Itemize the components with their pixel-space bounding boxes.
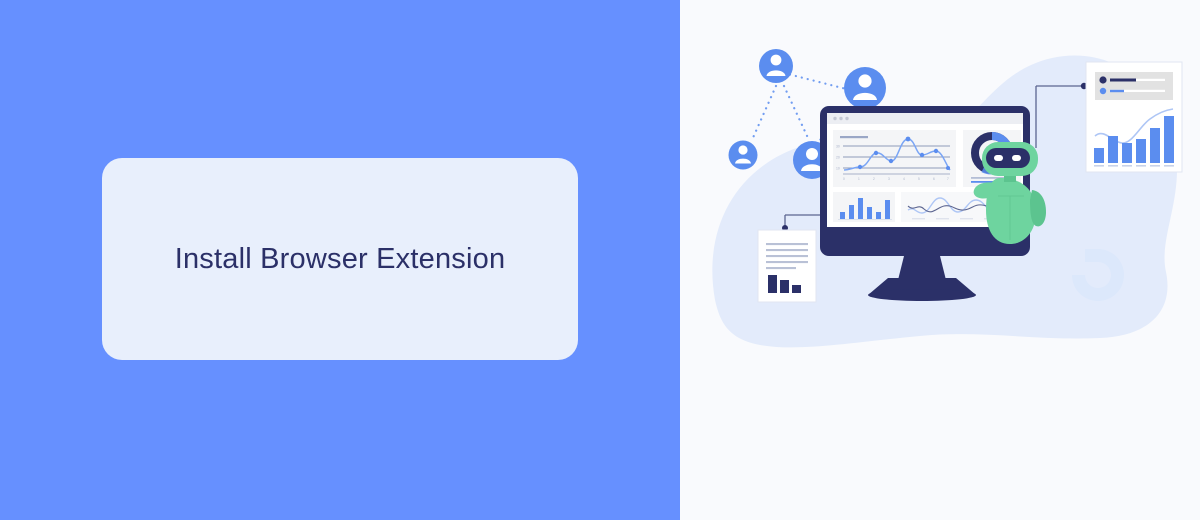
svg-text:5: 5	[918, 177, 920, 181]
page-root: Install Browser Extension	[0, 0, 1200, 520]
left-hero-panel: Install Browser Extension	[0, 0, 680, 520]
avatar-node-1[interactable]	[759, 49, 793, 83]
robot-visor	[986, 148, 1030, 168]
widget-bar-chart[interactable]	[833, 192, 895, 222]
svg-text:7: 7	[947, 177, 949, 181]
svg-text:0: 0	[843, 177, 845, 181]
widget-line-chart[interactable]: 30 20 10 0 1 2 3 4 5 6 7	[833, 130, 956, 187]
svg-text:20: 20	[836, 156, 840, 160]
svg-text:1: 1	[858, 177, 860, 181]
svg-text:4: 4	[903, 177, 905, 181]
right-illustration-panel: 30 20 10 0 1 2 3 4 5 6 7	[680, 0, 1200, 520]
avatar-node-2[interactable]	[844, 67, 886, 109]
avatar-node-3[interactable]	[729, 141, 758, 170]
robot-eye-left	[994, 155, 1003, 161]
monitor-neck	[898, 252, 946, 280]
titlebar-dots	[833, 117, 848, 120]
page-title: Install Browser Extension	[175, 243, 506, 276]
svg-text:3: 3	[888, 177, 890, 181]
svg-text:10: 10	[836, 167, 840, 171]
robot-eye-right	[1012, 155, 1021, 161]
svg-text:2: 2	[873, 177, 875, 181]
svg-text:30: 30	[836, 145, 840, 149]
analytics-dashboard-illustration: 30 20 10 0 1 2 3 4 5 6 7	[680, 0, 1200, 520]
hero-card[interactable]: Install Browser Extension	[102, 158, 578, 360]
svg-text:6: 6	[933, 177, 935, 181]
